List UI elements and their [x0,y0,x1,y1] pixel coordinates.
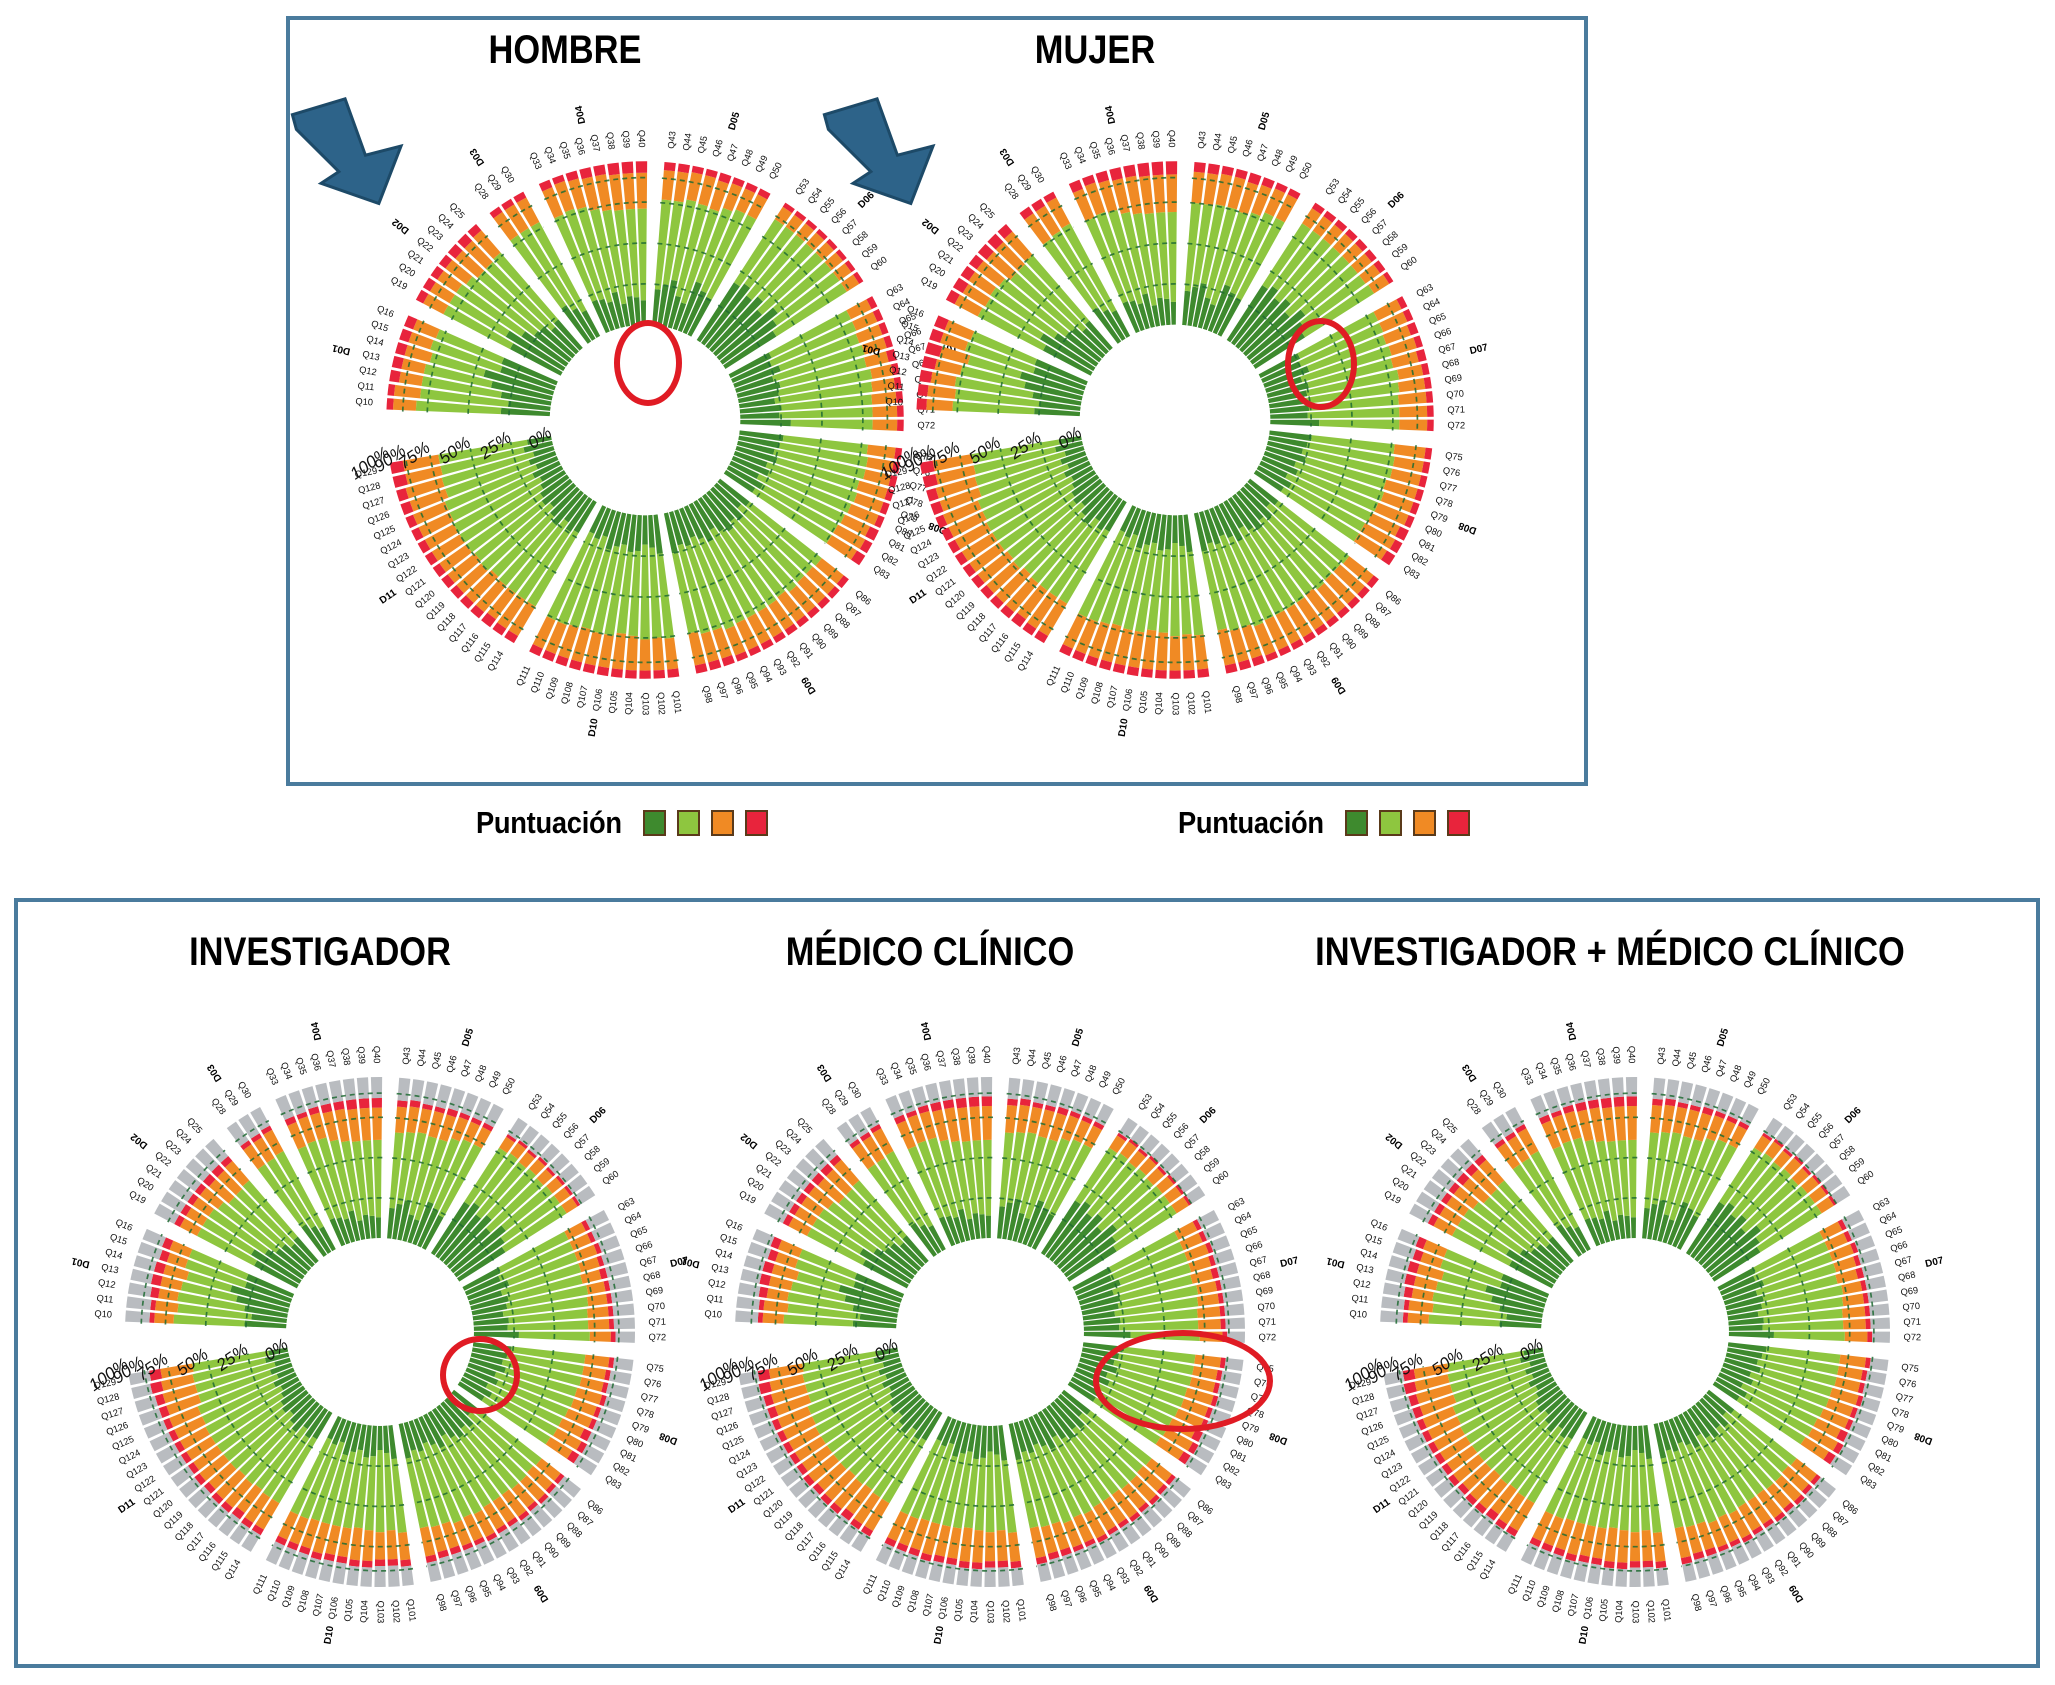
question-label: Q128 [706,1391,730,1406]
annotation-ellipse-hombre [614,320,682,406]
question-label: Q83 [603,1473,623,1491]
question-label: Q108 [559,681,575,706]
question-label: Q16 [375,303,395,319]
question-label: Q102 [1000,1600,1011,1623]
question-label: Q40 [637,130,647,148]
question-label: Q20 [927,261,947,279]
question-label: Q80 [1235,1434,1255,1450]
question-label: Q128 [887,480,911,495]
question-label: Q95 [477,1579,493,1599]
question-label: Q83 [1401,563,1421,581]
question-label: Q104 [968,1600,979,1623]
question-label: Q66 [1433,326,1453,341]
question-label: Q69 [1444,373,1463,385]
dimension-label: D11 [908,587,929,606]
circular-chart-ambos[interactable]: D01D02D03D04D05D06D07D08D09D10D11Q10Q11Q… [1295,992,1975,1672]
chart-title-mujer: MUJER [945,28,1246,73]
question-label: Q36 [309,1052,323,1071]
question-label: Q78 [1890,1405,1910,1420]
dimension-label: D09 [1329,674,1348,696]
question-label: Q98 [1231,685,1245,704]
question-label: Q101 [1015,1598,1027,1622]
question-label: Q39 [1151,130,1162,148]
question-label: Q43 [1656,1047,1668,1065]
question-label: Q48 [473,1064,489,1084]
question-label: Q22 [945,235,965,254]
question-label: Q96 [1718,1584,1733,1604]
question-label: Q97 [449,1589,463,1609]
question-label: Q110 [875,1579,893,1603]
question-label: Q126 [896,509,921,526]
question-label: Q98 [1045,1593,1059,1612]
dimension-label: D10 [587,717,601,737]
dimension-label: D05 [1070,1027,1086,1048]
question-label: Q96 [463,1584,478,1604]
question-label: Q48 [1728,1064,1744,1084]
question-label: Q36 [573,137,587,156]
question-label: Q127 [891,495,916,511]
question-label: Q80 [1423,523,1443,539]
question-label: Q105 [1597,1598,1609,1622]
question-label: Q49 [753,154,769,174]
legend-hombre: Puntuación [466,805,768,841]
question-label: Q111 [861,1572,879,1596]
legend-swatch-red [745,810,768,836]
question-label: Q48 [739,148,755,168]
dimension-label: D10 [933,1625,947,1645]
question-label: Q80 [1880,1434,1900,1450]
question-label: Q79 [631,1420,651,1435]
question-label: Q67 [1437,341,1457,355]
question-label: Q39 [966,1046,977,1064]
question-label: Q50 [1110,1076,1127,1096]
question-label: Q63 [1871,1196,1891,1213]
question-label: Q44 [1025,1048,1038,1067]
question-label: Q19 [737,1189,757,1206]
question-label: Q81 [618,1447,638,1464]
question-label: Q63 [1226,1196,1246,1213]
question-label: Q19 [389,275,409,292]
question-label: Q38 [950,1047,962,1066]
question-label: Q30 [1491,1080,1508,1100]
question-label: Q44 [1670,1048,1683,1067]
question-label: Q47 [459,1058,474,1078]
question-label: Q29 [222,1088,240,1108]
question-label: Q10 [1349,1309,1367,1320]
question-label: Q126 [715,1420,740,1437]
dimension-label: D05 [1715,1027,1731,1048]
question-label: Q33 [1519,1066,1535,1086]
question-label: Q98 [435,1593,449,1612]
legend-swatch-light-green [1379,810,1402,836]
question-label: Q28 [472,181,490,201]
question-label: Q106 [1121,688,1135,712]
question-label: Q34 [543,145,558,165]
question-label: Q95 [744,670,760,690]
question-label: Q38 [1135,131,1147,150]
question-label: Q93 [1115,1565,1132,1585]
question-label: Q65 [1884,1224,1904,1240]
circular-chart-mujer[interactable]: D01D02D03D04D05D06D07D08D09D10D11Q10Q11Q… [830,75,1520,765]
question-label: Q127 [100,1406,125,1422]
question-label: Q13 [100,1262,119,1276]
question-label: Q102 [656,692,667,715]
question-label: Q109 [280,1584,297,1609]
question-label: Q93 [1760,1565,1777,1585]
question-label: Q103 [376,1601,386,1624]
question-label: Q94 [1288,664,1305,684]
question-label: Q53 [1136,1092,1154,1112]
question-label: Q40 [1167,130,1177,148]
question-label: Q12 [888,365,907,378]
question-label: Q106 [1582,1596,1596,1620]
question-label: Q81 [1417,537,1437,554]
question-label: Q59 [1847,1156,1867,1175]
question-label: Q35 [294,1056,309,1076]
question-label: Q53 [793,177,811,197]
question-label: Q60 [1399,254,1419,272]
question-label: Q91 [797,640,815,660]
question-label: Q126 [105,1420,130,1437]
question-label: Q126 [366,509,391,526]
legend-label: Puntuación [1178,805,1324,841]
question-label: Q36 [919,1052,933,1071]
chart-title-investigador: INVESTIGADOR [135,930,505,975]
question-label: Q63 [616,1196,636,1213]
question-label: Q28 [1002,181,1020,201]
circular-chart-medico[interactable]: D01D02D03D04D05D06D07D08D09D10D11Q10Q11Q… [650,992,1330,1672]
question-label: Q38 [605,131,617,150]
question-label: Q59 [1202,1156,1222,1175]
question-label: Q95 [1732,1579,1748,1599]
question-label: Q98 [701,685,715,704]
question-label: Q128 [357,480,381,495]
question-label: Q107 [311,1593,326,1617]
question-label: Q11 [887,380,905,392]
dimension-label: D11 [726,1497,747,1516]
question-label: Q54 [1336,186,1355,206]
annotation-ellipse-medico [1093,1330,1273,1432]
question-label: Q13 [361,349,380,363]
question-label: Q45 [1685,1051,1698,1070]
question-label: Q127 [710,1406,735,1422]
legend-swatch-orange [1413,810,1436,836]
question-label: Q128 [1351,1391,1375,1406]
circular-chart-investigador[interactable]: D01D02D03D04D05D06D07D08D09D10D11Q10Q11Q… [40,992,720,1672]
question-label: Q97 [715,681,729,701]
question-label: Q19 [127,1189,147,1206]
question-label: Q49 [1742,1069,1758,1089]
question-label: Q40 [982,1046,992,1064]
question-label: Q91 [1140,1549,1158,1569]
question-label: Q16 [905,303,925,319]
question-label: Q128 [96,1391,120,1406]
question-label: Q92 [517,1558,535,1578]
question-label: Q43 [1196,131,1208,149]
question-label: Q110 [1059,670,1077,694]
question-label: Q104 [1613,1600,1624,1623]
question-label: Q11 [706,1293,724,1305]
question-label: Q108 [295,1589,311,1614]
question-label: Q21 [1399,1162,1419,1180]
question-label: Q43 [666,131,678,149]
question-label: Q22 [415,235,435,254]
question-label: Q37 [1119,134,1132,153]
question-label: Q68 [1252,1270,1271,1283]
question-label: Q13 [891,349,910,363]
question-label: Q11 [357,380,375,392]
question-label: Q34 [279,1061,294,1081]
question-label: Q90 [810,631,829,651]
dimension-label: D07 [1924,1255,1945,1270]
question-label: Q39 [621,130,632,148]
question-label: Q46 [1241,138,1255,158]
question-label: Q101 [671,690,683,714]
question-label: Q10 [885,396,903,407]
dimension-label: D02 [1383,1130,1405,1150]
question-label: Q12 [707,1277,726,1290]
question-label: Q29 [1477,1088,1495,1108]
question-label: Q79 [1241,1420,1261,1435]
question-label: Q37 [589,134,602,153]
question-label: Q12 [358,365,377,378]
question-label: Q110 [265,1579,283,1603]
question-label: Q81 [1228,1447,1248,1464]
question-label: Q50 [500,1076,517,1096]
question-label: Q106 [327,1596,341,1620]
question-label: Q83 [1858,1473,1878,1491]
question-label: Q37 [935,1049,948,1068]
question-label: Q49 [1097,1069,1113,1089]
question-label: Q111 [251,1572,269,1596]
question-label: Q67 [1893,1254,1913,1268]
question-label: Q94 [758,664,775,684]
question-label: Q107 [1566,1593,1581,1617]
question-label: Q43 [1011,1047,1023,1065]
chart-title-hombre: HOMBRE [415,28,716,73]
dimension-label: D06 [1386,190,1407,211]
question-label: Q20 [135,1175,155,1193]
question-label: Q96 [730,676,745,696]
question-label: Q69 [1900,1285,1919,1297]
question-label: Q13 [710,1262,729,1276]
question-label: Q16 [1369,1217,1389,1233]
dimension-label: D10 [1578,1625,1592,1645]
question-label: Q77 [1895,1391,1914,1405]
question-label: Q10 [704,1309,722,1320]
question-label: Q45 [430,1051,443,1070]
question-label: Q65 [629,1224,649,1240]
legend-swatch-orange [711,810,734,836]
dimension-label: D02 [128,1130,150,1150]
question-label: Q64 [1421,296,1441,312]
question-label: Q46 [1055,1054,1069,1074]
question-label: Q127 [361,495,386,511]
question-label: Q46 [711,138,725,158]
question-label: Q33 [874,1066,890,1086]
question-label: Q69 [1255,1285,1274,1297]
question-label: Q91 [1785,1549,1803,1569]
question-label: Q21 [144,1162,164,1180]
question-label: Q15 [900,318,920,333]
question-label: Q36 [1564,1052,1578,1071]
annotation-circle-investigador [440,1336,520,1414]
question-label: Q58 [1380,229,1400,248]
question-label: Q66 [1244,1239,1264,1254]
question-label: Q103 [986,1601,996,1624]
question-label: Q97 [1059,1589,1073,1609]
question-label: Q10 [355,396,373,407]
legend-swatch-dark-green [643,810,666,836]
question-label: Q28 [210,1096,228,1116]
question-label: Q79 [1429,509,1449,524]
question-label: Q30 [1029,164,1046,184]
question-label: Q14 [104,1247,124,1262]
question-label: Q65 [1239,1224,1259,1240]
dimension-label: D04 [1104,104,1119,125]
question-label: Q30 [499,164,516,184]
question-label: Q114 [1015,649,1035,673]
question-label: Q15 [719,1232,739,1247]
question-label: Q47 [725,143,740,163]
dimension-label: D01 [331,342,352,357]
dimension-label: D03 [468,146,487,168]
question-label: Q39 [1611,1046,1622,1064]
question-label: Q94 [1746,1572,1763,1592]
question-label: Q89 [1351,621,1370,641]
question-label: Q90 [1340,631,1359,651]
question-label: Q103 [1171,693,1181,716]
question-label: Q80 [625,1434,645,1450]
dimension-label: D09 [532,1582,551,1604]
question-label: Q66 [1889,1239,1909,1254]
question-label: Q107 [575,685,590,709]
question-label: Q104 [623,692,634,715]
legend-mujer: Puntuación [1168,805,1470,841]
question-label: Q65 [1427,311,1447,327]
dimension-label: D01 [861,342,882,357]
question-label: Q12 [97,1277,116,1290]
question-label: Q72 [1903,1332,1921,1342]
question-label: Q33 [1058,151,1074,171]
dimension-label: D05 [1257,110,1273,131]
question-label: Q111 [1044,664,1062,688]
question-label: Q12 [1352,1277,1371,1290]
question-label: Q10 [94,1309,112,1320]
question-label: Q44 [681,132,694,151]
question-label: Q102 [1186,692,1197,715]
dimension-label: D04 [920,1021,935,1042]
question-label: Q15 [1364,1232,1384,1247]
question-label: Q78 [1434,495,1454,510]
question-label: Q34 [1534,1061,1549,1081]
question-label: Q83 [1213,1473,1233,1491]
question-label: Q91 [530,1549,548,1569]
question-label: Q33 [264,1066,280,1086]
question-label: Q53 [526,1092,544,1112]
question-label: Q37 [325,1049,338,1068]
dimension-label: D03 [1460,1062,1479,1084]
question-label: Q36 [1103,137,1117,156]
question-label: Q48 [1269,148,1285,168]
question-label: Q46 [1700,1054,1714,1074]
question-label: Q37 [1580,1049,1593,1068]
question-label: Q111 [514,664,532,688]
question-label: Q14 [1359,1247,1379,1262]
question-label: Q19 [919,275,939,292]
question-label: Q21 [754,1162,774,1180]
question-label: Q70 [1257,1301,1275,1313]
dimension-label: D06 [1198,1105,1219,1126]
question-label: Q54 [806,186,825,206]
question-label: Q50 [1755,1076,1772,1096]
dimension-label: D03 [998,146,1017,168]
question-label: Q107 [921,1593,936,1617]
question-label: Q92 [785,649,803,669]
dimension-label: D02 [920,216,942,236]
question-label: Q64 [623,1210,643,1226]
question-label: Q28 [820,1096,838,1116]
question-label: Q28 [1465,1096,1483,1116]
question-label: Q34 [1073,145,1088,165]
question-label: Q108 [1089,681,1105,706]
question-label: Q92 [1315,649,1333,669]
question-label: Q16 [724,1217,744,1233]
question-label: Q93 [1301,657,1318,677]
question-label: Q35 [1088,140,1103,160]
question-label: Q34 [889,1061,904,1081]
question-label: Q114 [485,649,505,673]
question-label: Q108 [905,1589,921,1614]
dimension-label: D06 [1843,1105,1864,1126]
question-label: Q79 [1886,1420,1906,1435]
question-label: Q109 [1074,676,1091,701]
question-label: Q33 [528,151,544,171]
question-label: Q60 [1855,1169,1875,1187]
question-label: Q48 [1083,1064,1099,1084]
question-label: Q11 [96,1293,114,1305]
question-label: Q125 [902,523,927,541]
question-label: Q82 [1866,1460,1886,1477]
question-label: Q101 [405,1598,417,1622]
question-label: Q67 [1248,1254,1268,1268]
question-label: Q110 [529,670,547,694]
dimension-label: D08 [1913,1430,1934,1447]
question-label: Q72 [1447,420,1465,430]
question-label: Q103 [1631,1601,1641,1624]
annotation-ellipse-mujer [1285,318,1357,410]
dimension-label: D03 [205,1062,224,1084]
question-label: Q35 [1549,1056,1564,1076]
question-label: Q96 [1073,1584,1088,1604]
dimension-label: D11 [378,587,399,606]
question-label: Q53 [1781,1092,1799,1112]
question-label: Q29 [1015,172,1033,192]
question-label: Q63 [1415,282,1435,299]
question-label: Q30 [846,1080,863,1100]
question-label: Q70 [1446,388,1464,400]
question-label: Q14 [714,1247,734,1262]
question-label: Q82 [611,1460,631,1477]
question-label: Q93 [771,657,788,677]
question-label: Q14 [895,333,915,348]
question-label: Q47 [1255,143,1270,163]
question-label: Q11 [1351,1293,1369,1305]
question-label: Q39 [356,1046,367,1064]
dimension-label: D05 [727,110,743,131]
dimension-label: D08 [1457,519,1478,536]
question-label: Q20 [745,1175,765,1193]
